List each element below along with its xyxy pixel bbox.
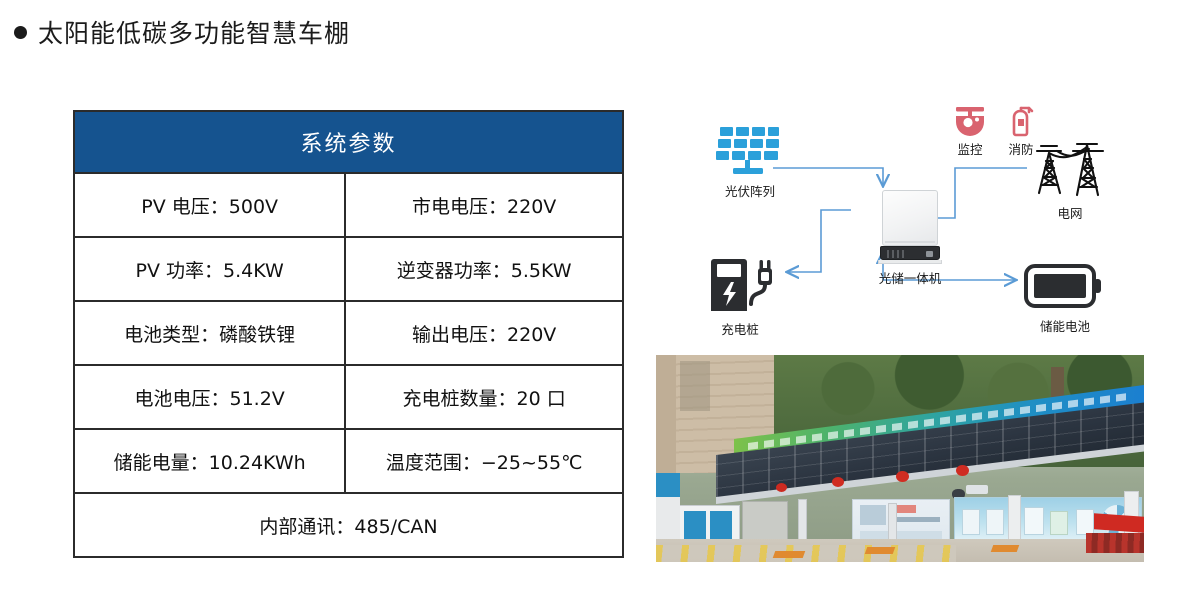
power-grid-tower-icon — [1027, 137, 1113, 199]
cell-pv-voltage: PV 电压：500V — [74, 173, 345, 237]
table-header-row: 系统参数 — [74, 111, 623, 173]
diagram-node-battery[interactable]: 储能电池 — [1010, 260, 1120, 335]
inverter-display-panel — [880, 246, 940, 260]
table-row: 内部通讯：485/CAN — [74, 493, 623, 557]
slide-root: 太阳能低碳多功能智慧车棚 系统参数 PV 电压：500V 市电电压：220V P… — [0, 0, 1200, 605]
cell-battery-voltage: 电池电压：51.2V — [74, 365, 345, 429]
cell-pv-power: PV 功率：5.4KW — [74, 237, 345, 301]
diagram-node-grid-label: 电网 — [1057, 203, 1082, 222]
diagram-node-charger-label: 充电桩 — [721, 319, 759, 338]
cell-grid-voltage: 市电电压：220V — [345, 173, 623, 237]
inverter-icon — [882, 190, 938, 246]
diagram-node-battery-label: 储能电池 — [1040, 316, 1090, 335]
diagram-node-pv-label: 光伏阵列 — [725, 181, 775, 200]
page-title-text: 太阳能低碳多功能智慧车棚 — [38, 14, 350, 50]
table-row: 电池电压：51.2V 充电桩数量：20 口 — [74, 365, 623, 429]
solar-panel-icon — [714, 123, 786, 177]
fire-extinguisher-icon — [1005, 105, 1037, 137]
ev-charging-pile-icon — [702, 255, 778, 315]
cell-battery-type: 电池类型：磷酸铁锂 — [74, 301, 345, 365]
diagram-node-inverter[interactable]: 光储一体机 — [855, 190, 965, 287]
flow-inverter-to-charger — [788, 210, 851, 272]
table-header-cell: 系统参数 — [74, 111, 623, 173]
diagram-node-pv[interactable]: 光伏阵列 — [695, 123, 805, 200]
cell-inverter-power: 逆变器功率：5.5KW — [345, 237, 623, 301]
cell-internal-comm: 内部通讯：485/CAN — [74, 493, 623, 557]
cell-temperature-range: 温度范围：−25~55℃ — [345, 429, 623, 493]
system-flow-diagram: 光伏阵列 监控 — [655, 105, 1155, 350]
cell-storage-capacity: 储能电量：10.24KWh — [74, 429, 345, 493]
diagram-node-monitor-label: 监控 — [957, 139, 982, 158]
inverter-base — [878, 260, 942, 264]
bullet-dot-icon — [14, 26, 27, 39]
page-title: 太阳能低碳多功能智慧车棚 — [14, 14, 350, 50]
system-parameters-table: 系统参数 PV 电压：500V 市电电压：220V PV 功率：5.4KW 逆变… — [73, 110, 624, 558]
diagram-node-monitor[interactable]: 监控 — [953, 105, 987, 158]
table-row: 电池类型：磷酸铁锂 输出电压：220V — [74, 301, 623, 365]
cell-output-voltage: 输出电压：220V — [345, 301, 623, 365]
solar-carport-photo — [656, 355, 1144, 562]
battery-icon — [1023, 260, 1107, 312]
cell-charger-count: 充电桩数量：20 口 — [345, 365, 623, 429]
table-row: PV 功率：5.4KW 逆变器功率：5.5KW — [74, 237, 623, 301]
security-camera-icon — [953, 105, 987, 137]
diagram-node-grid[interactable]: 电网 — [1015, 137, 1125, 222]
diagram-node-inverter-label: 光储一体机 — [879, 268, 942, 287]
table-row: PV 电压：500V 市电电压：220V — [74, 173, 623, 237]
diagram-node-charger[interactable]: 充电桩 — [685, 255, 795, 338]
table-row: 储能电量：10.24KWh 温度范围：−25~55℃ — [74, 429, 623, 493]
